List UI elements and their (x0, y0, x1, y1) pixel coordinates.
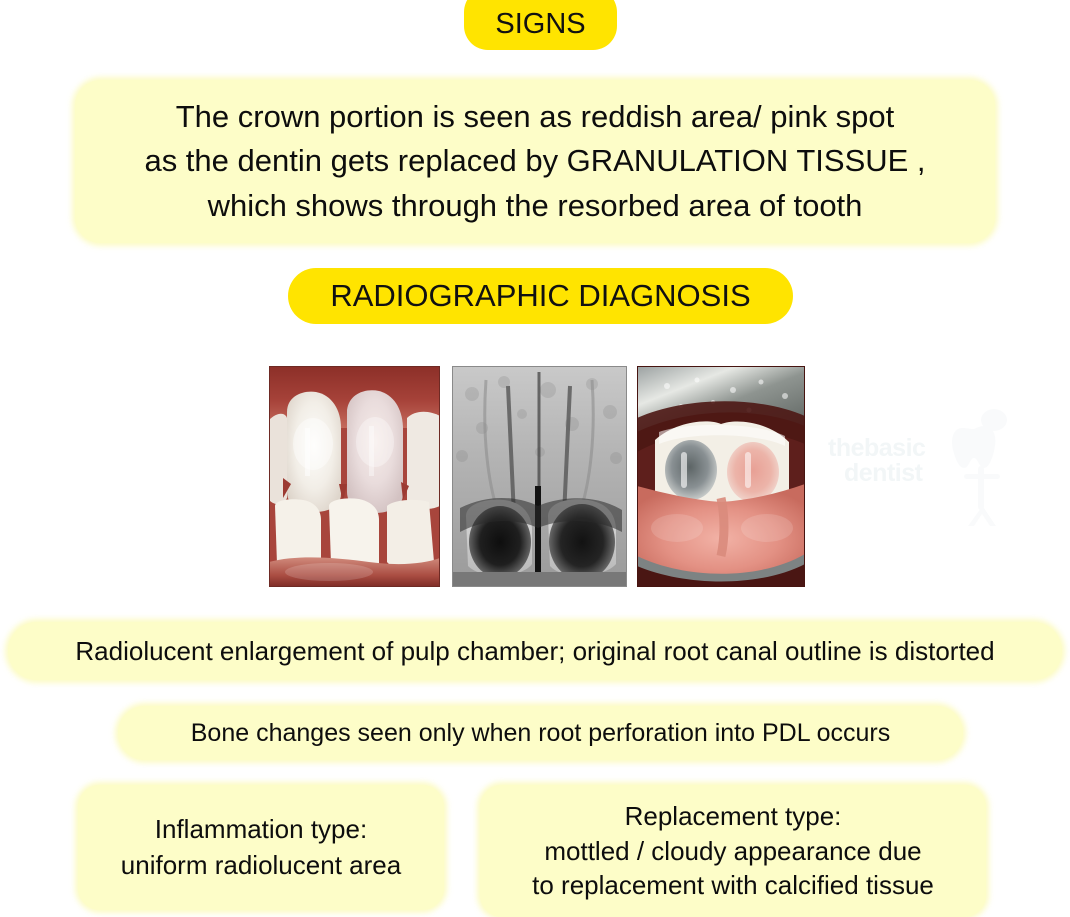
periapical-radiograph (452, 366, 627, 587)
finding-radiolucent-enlargement-box: Radiolucent enlargement of pulp chamber;… (8, 622, 1062, 680)
inflammation-type-text: Inflammation type: uniform radiolucent a… (121, 812, 401, 884)
replacement-type-text: Replacement type: mottled / cloudy appea… (532, 799, 934, 903)
finding-bone-changes-box: Bone changes seen only when root perfora… (118, 706, 963, 760)
replacement-type-box: Replacement type: mottled / cloudy appea… (480, 785, 986, 917)
finding-radiolucent-text: Radiolucent enlargement of pulp chamber;… (75, 636, 994, 667)
finding-bone-changes-text: Bone changes seen only when root perfora… (191, 719, 891, 748)
inflammation-type-box: Inflammation type: uniform radiolucent a… (78, 785, 444, 910)
clinical-photo-anterior-teeth (269, 366, 440, 587)
image-row (0, 0, 1070, 917)
clinical-photo-palatal-mirror-view (637, 366, 805, 587)
